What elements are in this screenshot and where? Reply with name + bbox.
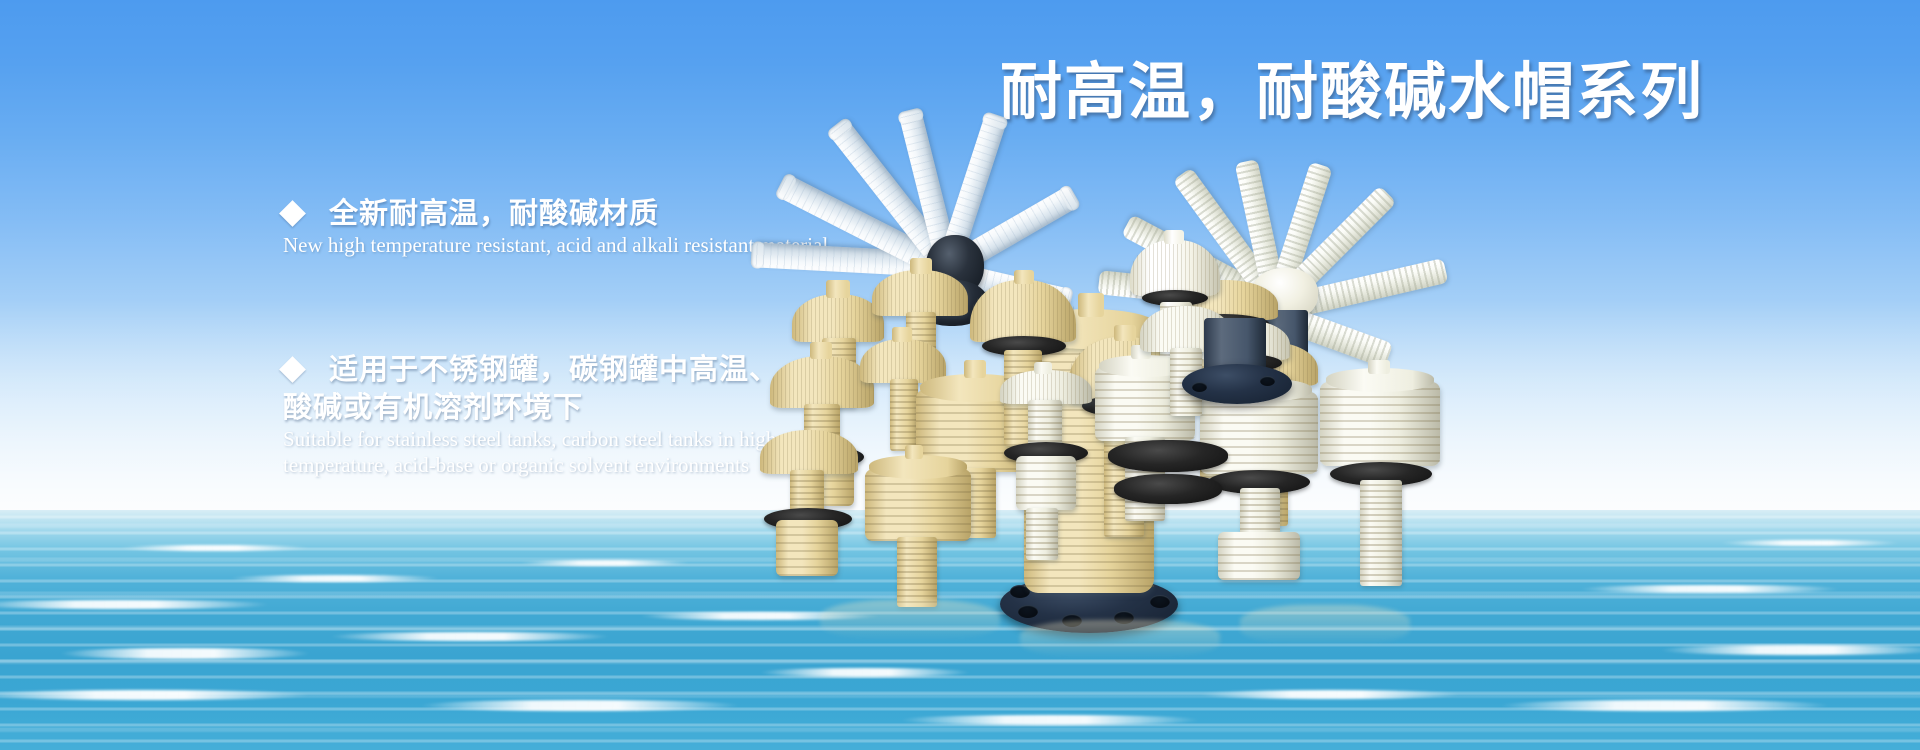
water-streak [60,648,310,659]
water-streak [420,700,740,711]
product-group-image [700,130,1920,660]
nozzle-ivory-f [1000,362,1092,562]
nozzle-tan-j [760,430,858,580]
water-streak [1200,690,1460,699]
page-title: 耐高温，耐酸碱水帽系列 [1000,58,1704,127]
water-streak [520,560,690,566]
water-streak [120,545,310,551]
product-reflection [1240,605,1410,645]
nozzle-black-gasket-wide [1108,440,1228,510]
water-streak [330,632,610,641]
water-streak [230,575,440,582]
water-streak [760,668,970,677]
diamond-bullet-icon [279,356,306,383]
water-streak [1500,700,1830,711]
product-reflection [1020,620,1220,658]
water-streak [900,715,1200,725]
product-reflection [820,600,1000,640]
nozzle-dark-stem-flange [1182,318,1292,428]
product-banner: 耐高温，耐酸碱水帽系列 全新耐高温，耐酸碱材质 New high tempera… [0,0,1920,750]
diamond-bullet-icon [279,200,306,227]
nozzle-ivory-e [1320,360,1440,590]
nozzle-tan-k [865,445,971,610]
